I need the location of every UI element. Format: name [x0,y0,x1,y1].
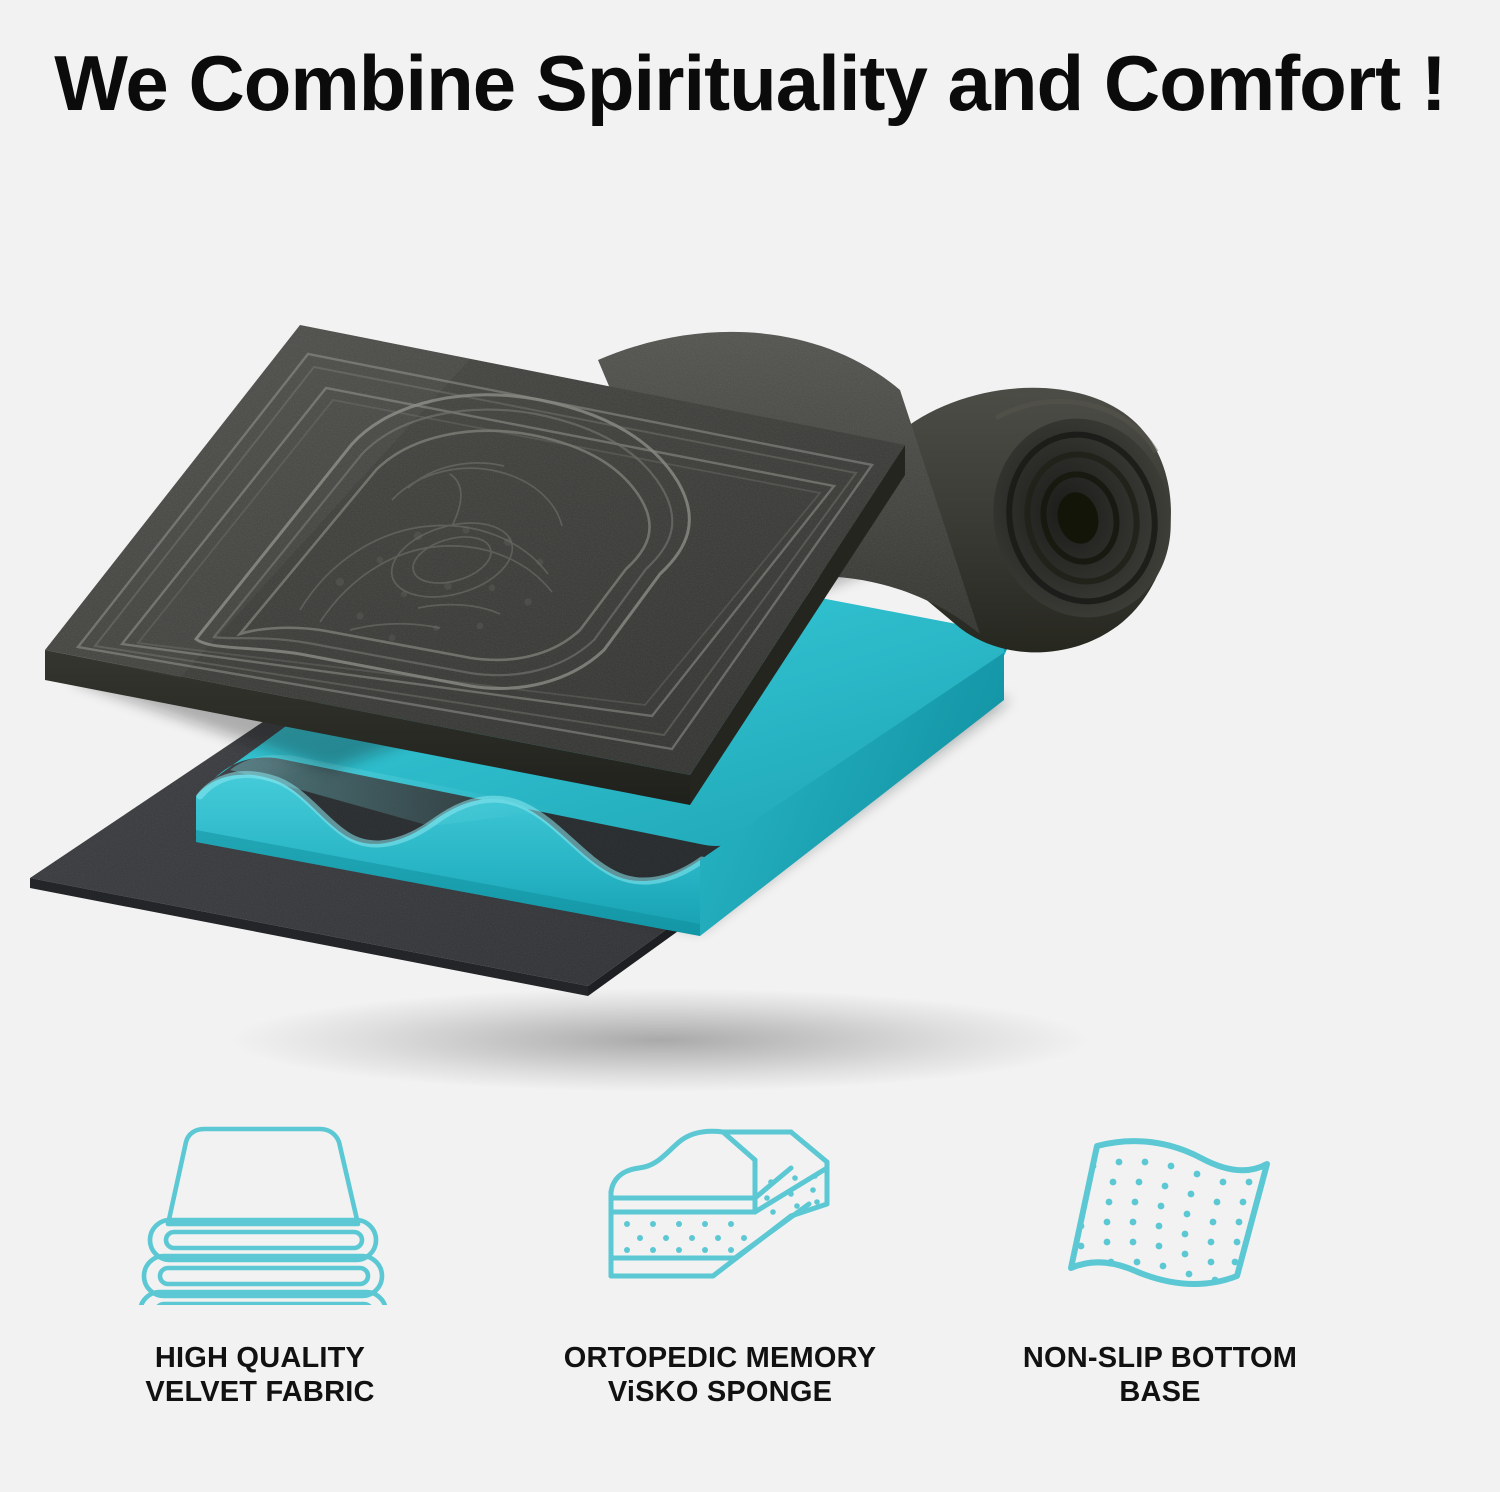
feature-label-memory-sponge: ORTOPEDIC MEMORY ViSKO SPONGE [564,1341,877,1409]
folded-fabric-stack-icon [110,1120,410,1305]
feature-list: HIGH QUALITY VELVET FABRIC [0,1120,1500,1450]
feature-item-velvet-fabric: HIGH QUALITY VELVET FABRIC [40,1120,480,1409]
memory-foam-block-icon [595,1120,845,1305]
feature-item-memory-sponge: ORTOPEDIC MEMORY ViSKO SPONGE [510,1120,930,1409]
feature-label-non-slip-base: NON-SLIP BOTTOM BASE [1023,1341,1297,1409]
page-title: We Combine Spirituality and Comfort ! [0,44,1500,122]
feature-item-non-slip-base: NON-SLIP BOTTOM BASE [950,1120,1370,1409]
dotted-non-slip-sheet-icon [1035,1120,1285,1305]
hero-layer-velvet-mat [45,325,1192,805]
product-hero-image [0,230,1500,1100]
feature-label-velvet-fabric: HIGH QUALITY VELVET FABRIC [145,1341,374,1409]
